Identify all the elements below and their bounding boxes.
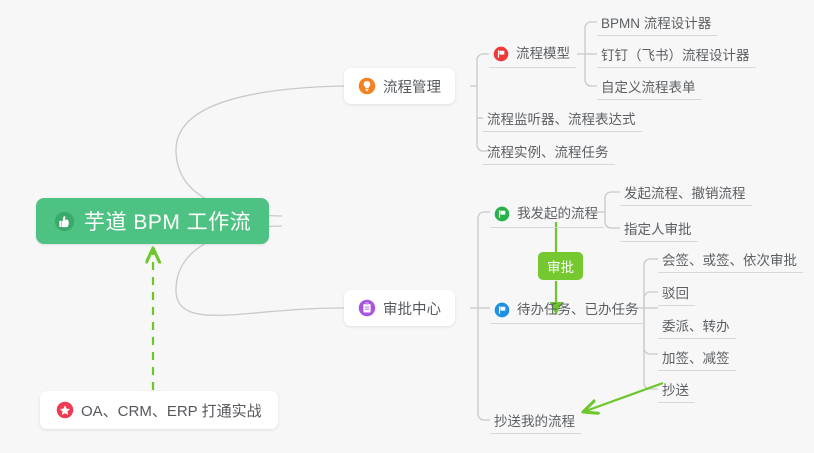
approval-tag-label: 审批: [547, 256, 574, 276]
edge-pmodel-trunk-up: [585, 22, 597, 54]
node-label: 指定人审批: [624, 223, 692, 242]
edge-ac-trunk-up: [478, 212, 490, 308]
node-label: 待办任务、已办任务: [517, 303, 639, 317]
edge-todo-c2: [644, 292, 658, 308]
branch-label: 流程管理: [383, 76, 441, 97]
node-label: 抄送: [662, 384, 689, 403]
root-label: 芋道 BPM 工作流: [84, 206, 251, 236]
node-process-listener-expression[interactable]: 流程监听器、流程表达式: [483, 104, 642, 132]
node-label: 发起流程、撤销流程: [624, 187, 746, 206]
node-label: 驳回: [662, 287, 689, 306]
node-dingtalk-feishu-designer[interactable]: 钉钉（飞书）流程设计器: [597, 40, 756, 68]
star-icon: [56, 401, 74, 419]
branch-node-approval-center[interactable]: 审批中心: [344, 290, 455, 326]
clipboard-icon: [358, 299, 376, 317]
integration-callout-label: OA、CRM、ERP 打通实战: [81, 400, 262, 421]
node-bpmn-designer[interactable]: BPMN 流程设计器: [597, 8, 717, 36]
branch-label: 审批中心: [383, 298, 441, 319]
integration-callout[interactable]: OA、CRM、ERP 打通实战: [40, 391, 278, 429]
node-assignee-approval[interactable]: 指定人审批: [620, 214, 698, 242]
node-add-remove-sign[interactable]: 加签、减签: [658, 343, 736, 371]
edge-pmodel-trunk-down: [585, 54, 597, 86]
node-delegate-transfer[interactable]: 委派、转办: [658, 311, 736, 339]
edge-mine-trunk-down: [605, 212, 620, 228]
node-process-instance-task[interactable]: 流程实例、流程任务: [483, 137, 615, 165]
node-my-initiated-process[interactable]: 我发起的流程: [490, 200, 604, 228]
node-label: 流程模型: [516, 47, 570, 61]
branch-node-process-management[interactable]: 流程管理: [344, 68, 455, 104]
node-label: 抄送我的流程: [494, 415, 575, 434]
node-start-cancel-process[interactable]: 发起流程、撤销流程: [620, 178, 752, 206]
edge-cc-to-ccmine: [583, 383, 663, 412]
node-label: 流程监听器、流程表达式: [487, 113, 636, 132]
approval-tag[interactable]: 审批: [538, 252, 583, 280]
node-label: 我发起的流程: [517, 207, 598, 221]
lightbulb-icon: [358, 77, 376, 95]
node-countersign-orsign-sequential[interactable]: 会签、或签、依次审批: [658, 245, 803, 273]
node-label: 钉钉（飞书）流程设计器: [601, 49, 750, 68]
node-cc-to-me-process[interactable]: 抄送我的流程: [490, 406, 581, 434]
edge-ac-trunk-down: [478, 308, 490, 420]
node-reject[interactable]: 驳回: [658, 278, 695, 306]
node-custom-process-form[interactable]: 自定义流程表单: [597, 72, 702, 100]
node-label: 流程实例、流程任务: [487, 146, 609, 165]
thumbs-up-icon: [54, 211, 75, 232]
edge-todo-c4: [644, 308, 658, 354]
flag-icon: [493, 46, 509, 62]
root-node[interactable]: 芋道 BPM 工作流: [36, 198, 269, 244]
mindmap-canvas: 芋道 BPM 工作流 流程管理 流程模型 BPMN 流程设计器 钉钉（飞书: [0, 0, 814, 453]
edge-pm-trunk: [477, 54, 489, 86]
edge-todo-trunk-up: [644, 259, 658, 308]
node-label: 加签、减签: [662, 352, 730, 371]
flag-icon: [494, 302, 510, 318]
node-label: 自定义流程表单: [601, 81, 696, 100]
edge-mine-trunk-up: [605, 192, 620, 212]
node-carbon-copy[interactable]: 抄送: [658, 375, 695, 403]
node-label: 会签、或签、依次审批: [662, 254, 797, 273]
node-process-model[interactable]: 流程模型: [489, 40, 576, 68]
node-label: BPMN 流程设计器: [601, 17, 711, 36]
node-todo-done-tasks[interactable]: 待办任务、已办任务: [490, 296, 645, 324]
node-label: 委派、转办: [662, 320, 730, 339]
edge-todo-c5: [644, 308, 658, 389]
flag-icon: [494, 206, 510, 222]
edge-root-to-process-management: [176, 86, 344, 216]
